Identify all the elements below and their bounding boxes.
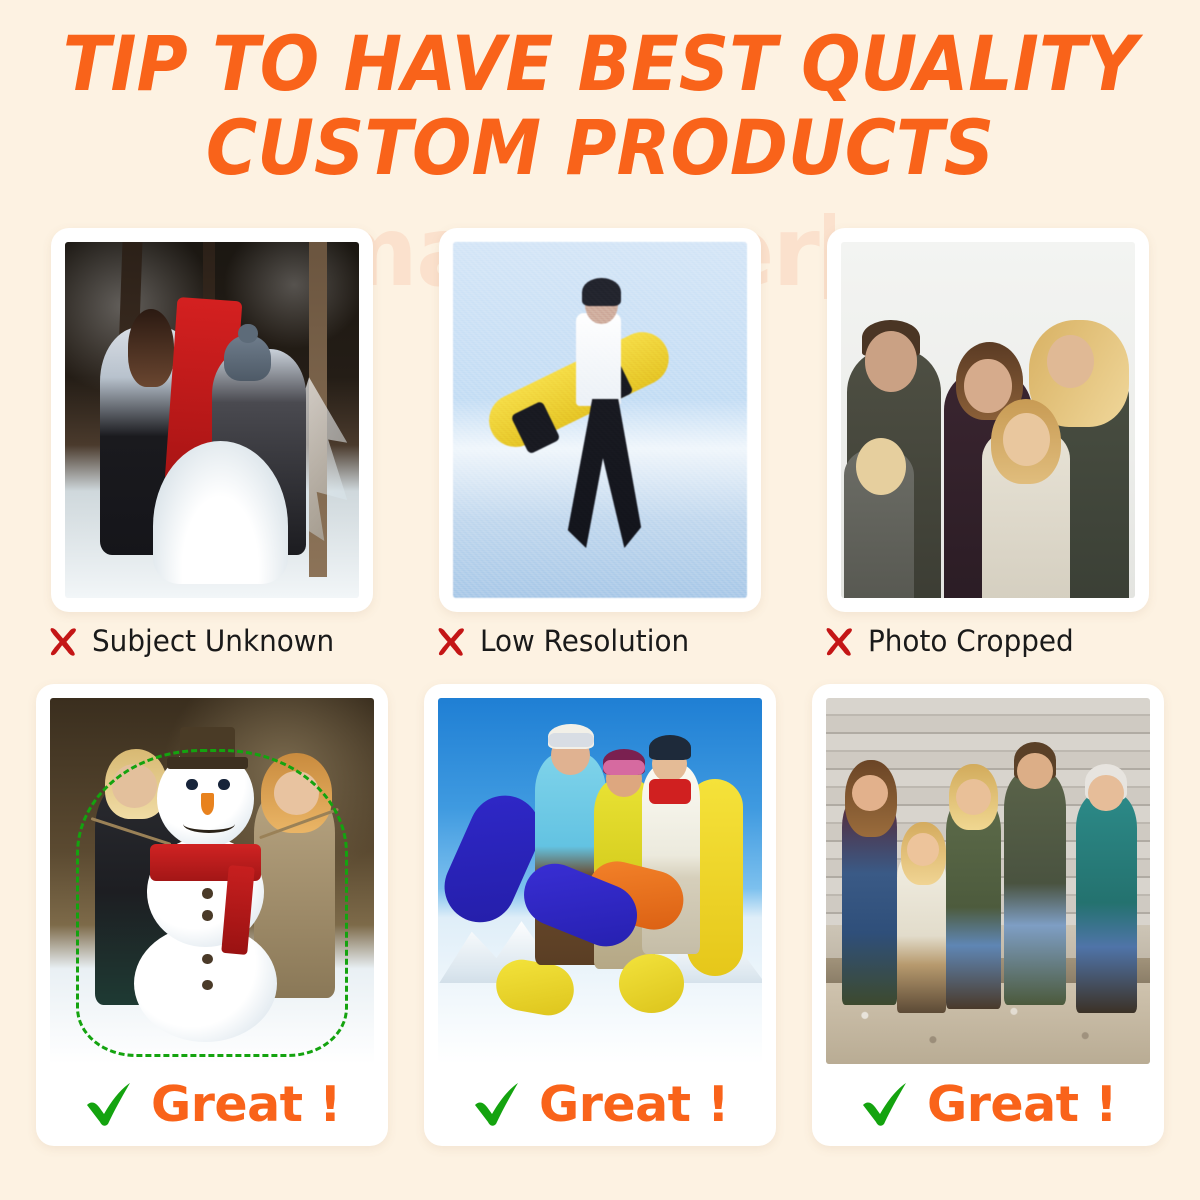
photo-family-wooden-wall (826, 698, 1150, 1064)
example-low-resolution: Low Resolution (420, 228, 780, 670)
status-label: Great ! (927, 1076, 1117, 1133)
green-dashed-cutout-outline (76, 749, 348, 1056)
status-label: Low Resolution (480, 624, 689, 658)
examples-grid: Subject Unknown Low Resolution (0, 228, 1200, 1146)
photo-two-women-snowman-forest (65, 242, 359, 598)
photo-three-snowboarders (438, 698, 762, 1064)
photo-card[interactable]: Great ! (36, 684, 388, 1146)
bad-examples-row: Subject Unknown Low Resolution (0, 228, 1200, 670)
example-great-snowman: Great ! (32, 684, 392, 1146)
status-label: Great ! (539, 1076, 729, 1133)
status-row: Low Resolution (420, 612, 780, 670)
status-label: Great ! (151, 1076, 341, 1133)
photo-card[interactable]: Great ! (424, 684, 776, 1146)
photo-cropped-family (841, 242, 1135, 598)
example-subject-unknown: Subject Unknown (32, 228, 392, 670)
status-row: Great ! (50, 1064, 374, 1138)
page-title-line-1: TIP TO HAVE BEST QUALITY (48, 22, 1152, 106)
page-title-line-2: CUSTOM PRODUCTS (48, 106, 1152, 190)
status-row: Great ! (826, 1064, 1150, 1138)
photo-snowman-with-cutout (50, 698, 374, 1064)
red-x-icon (434, 624, 468, 658)
green-check-icon (471, 1078, 523, 1130)
green-check-icon (83, 1078, 135, 1130)
page-title: TIP TO HAVE BEST QUALITY CUSTOM PRODUCTS (48, 22, 1152, 190)
status-row: Photo Cropped (808, 612, 1168, 670)
red-x-icon (822, 624, 856, 658)
photo-card[interactable] (827, 228, 1149, 612)
example-great-riders: Great ! (420, 684, 780, 1146)
red-x-icon (46, 624, 80, 658)
status-label: Subject Unknown (92, 624, 334, 658)
photo-card[interactable] (51, 228, 373, 612)
good-examples-row: Great ! (0, 684, 1200, 1146)
photo-card[interactable]: Great ! (812, 684, 1164, 1146)
example-great-family: Great ! (808, 684, 1168, 1146)
status-row: Great ! (438, 1064, 762, 1138)
photo-card[interactable] (439, 228, 761, 612)
photo-lowres-snowboarder (453, 242, 747, 598)
example-photo-cropped: Photo Cropped (808, 228, 1168, 670)
status-label: Photo Cropped (868, 624, 1074, 658)
status-row: Subject Unknown (32, 612, 392, 670)
green-check-icon (859, 1078, 911, 1130)
